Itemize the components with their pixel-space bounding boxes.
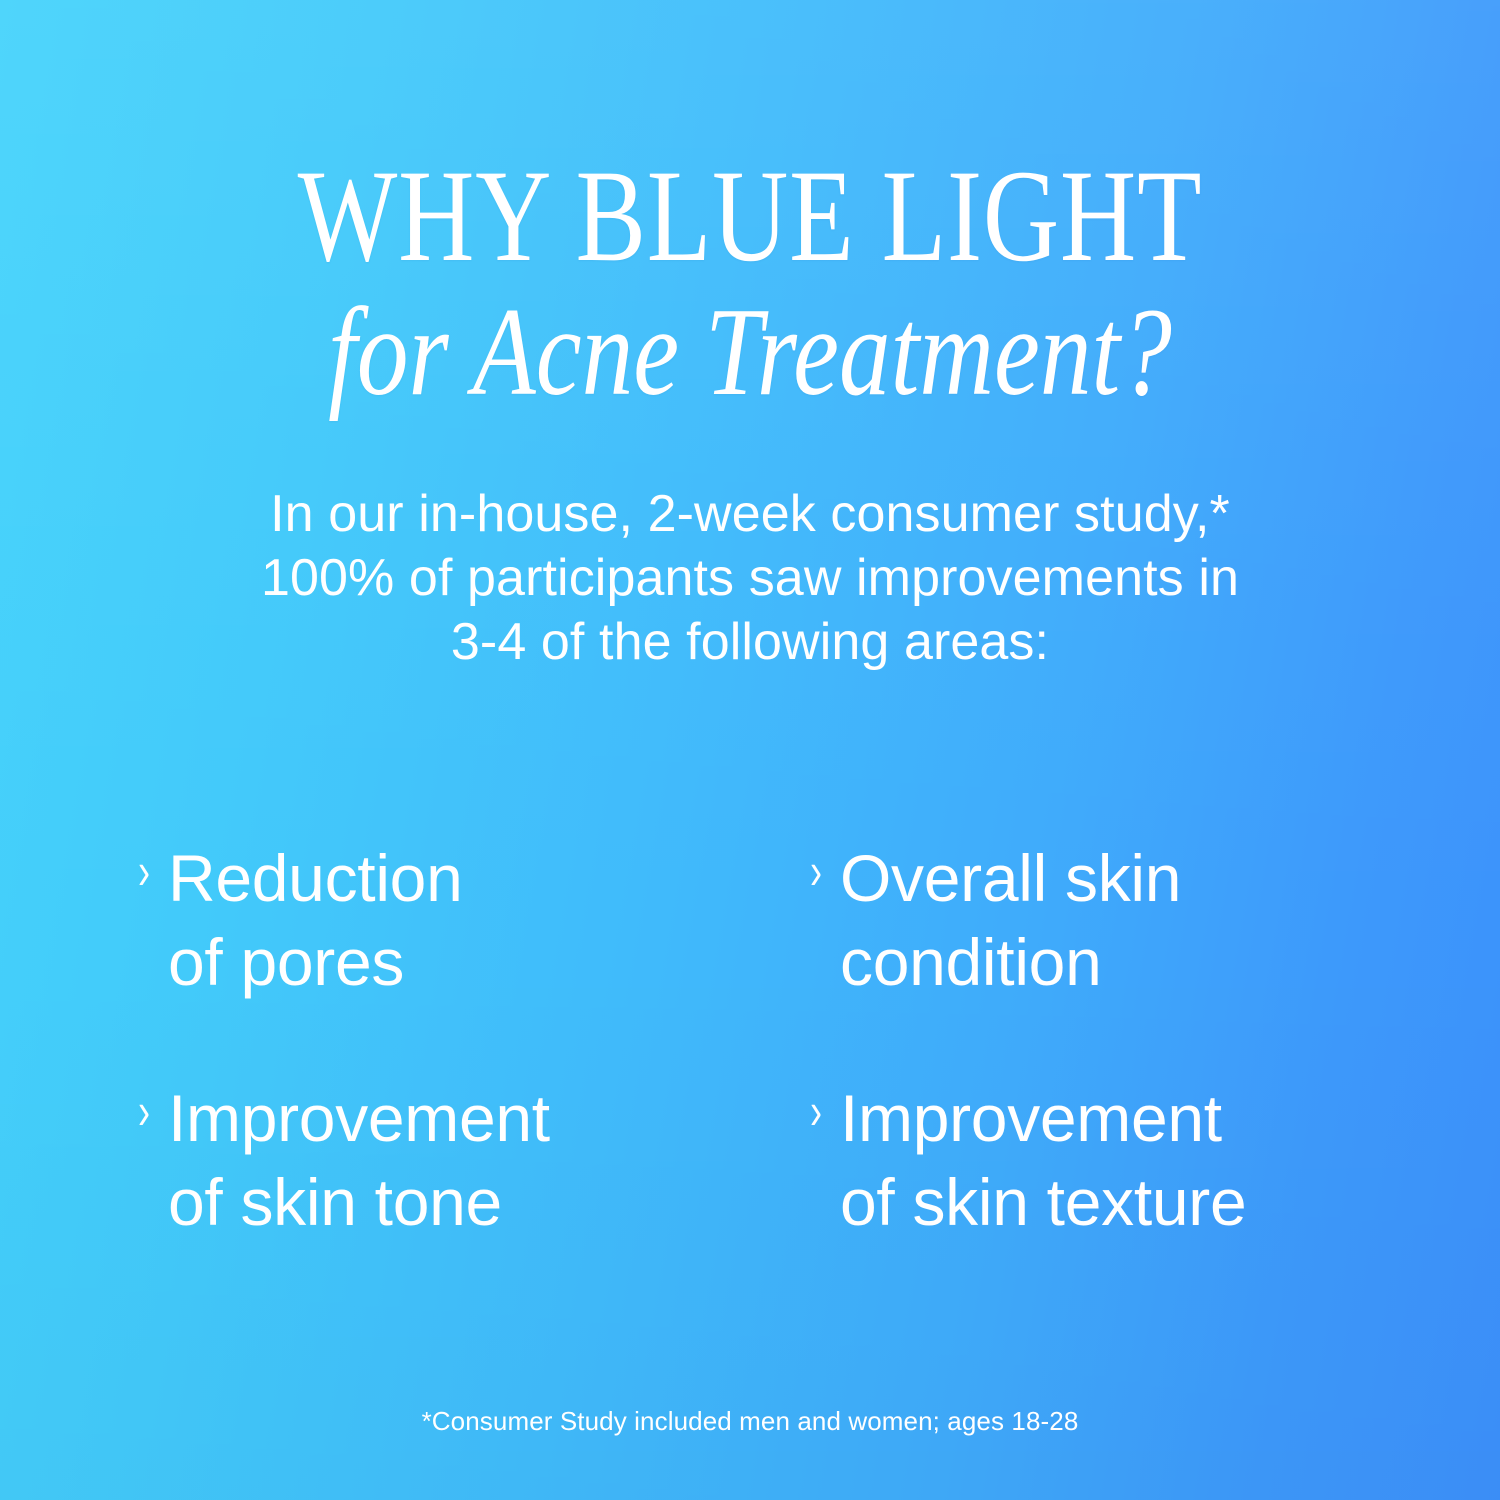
headline-primary: WHY BLUE LIGHT bbox=[150, 150, 1350, 282]
benefit-item-improvement-of-skin-tone: › Improvement of skin tone bbox=[138, 1076, 810, 1244]
chevron-right-icon: › bbox=[810, 846, 835, 898]
chevron-right-icon: › bbox=[810, 1086, 835, 1138]
intro-line-2: 100% of participants saw improvements in bbox=[170, 546, 1330, 610]
intro-line-3: 3-4 of the following areas: bbox=[170, 610, 1330, 674]
headline-secondary: for Acne Treatment? bbox=[135, 286, 1365, 420]
chevron-right-icon: › bbox=[138, 846, 163, 898]
benefit-label: Improvement of skin tone bbox=[168, 1076, 810, 1244]
benefit-item-improvement-of-skin-texture: › Improvement of skin texture bbox=[810, 1076, 1378, 1244]
chevron-right-icon: › bbox=[138, 1086, 163, 1138]
footnote-disclaimer: *Consumer Study included men and women; … bbox=[0, 1404, 1500, 1438]
page-title: WHY BLUE LIGHT for Acne Treatment? bbox=[0, 150, 1500, 420]
promo-poster: WHY BLUE LIGHT for Acne Treatment? In ou… bbox=[0, 0, 1500, 1500]
benefit-label: Improvement of skin texture bbox=[840, 1076, 1378, 1244]
benefit-label: Reduction of pores bbox=[168, 836, 810, 1004]
benefit-label: Overall skin condition bbox=[840, 836, 1378, 1004]
intro-line-1: In our in-house, 2-week consumer study,* bbox=[170, 482, 1330, 546]
poster-content: WHY BLUE LIGHT for Acne Treatment? In ou… bbox=[0, 0, 1500, 1500]
benefits-list: › Reduction of pores › Overall skin cond… bbox=[138, 836, 1378, 1244]
intro-paragraph: In our in-house, 2-week consumer study,*… bbox=[170, 482, 1330, 674]
benefit-item-overall-skin-condition: › Overall skin condition bbox=[810, 836, 1378, 1004]
benefit-item-reduction-of-pores: › Reduction of pores bbox=[138, 836, 810, 1004]
